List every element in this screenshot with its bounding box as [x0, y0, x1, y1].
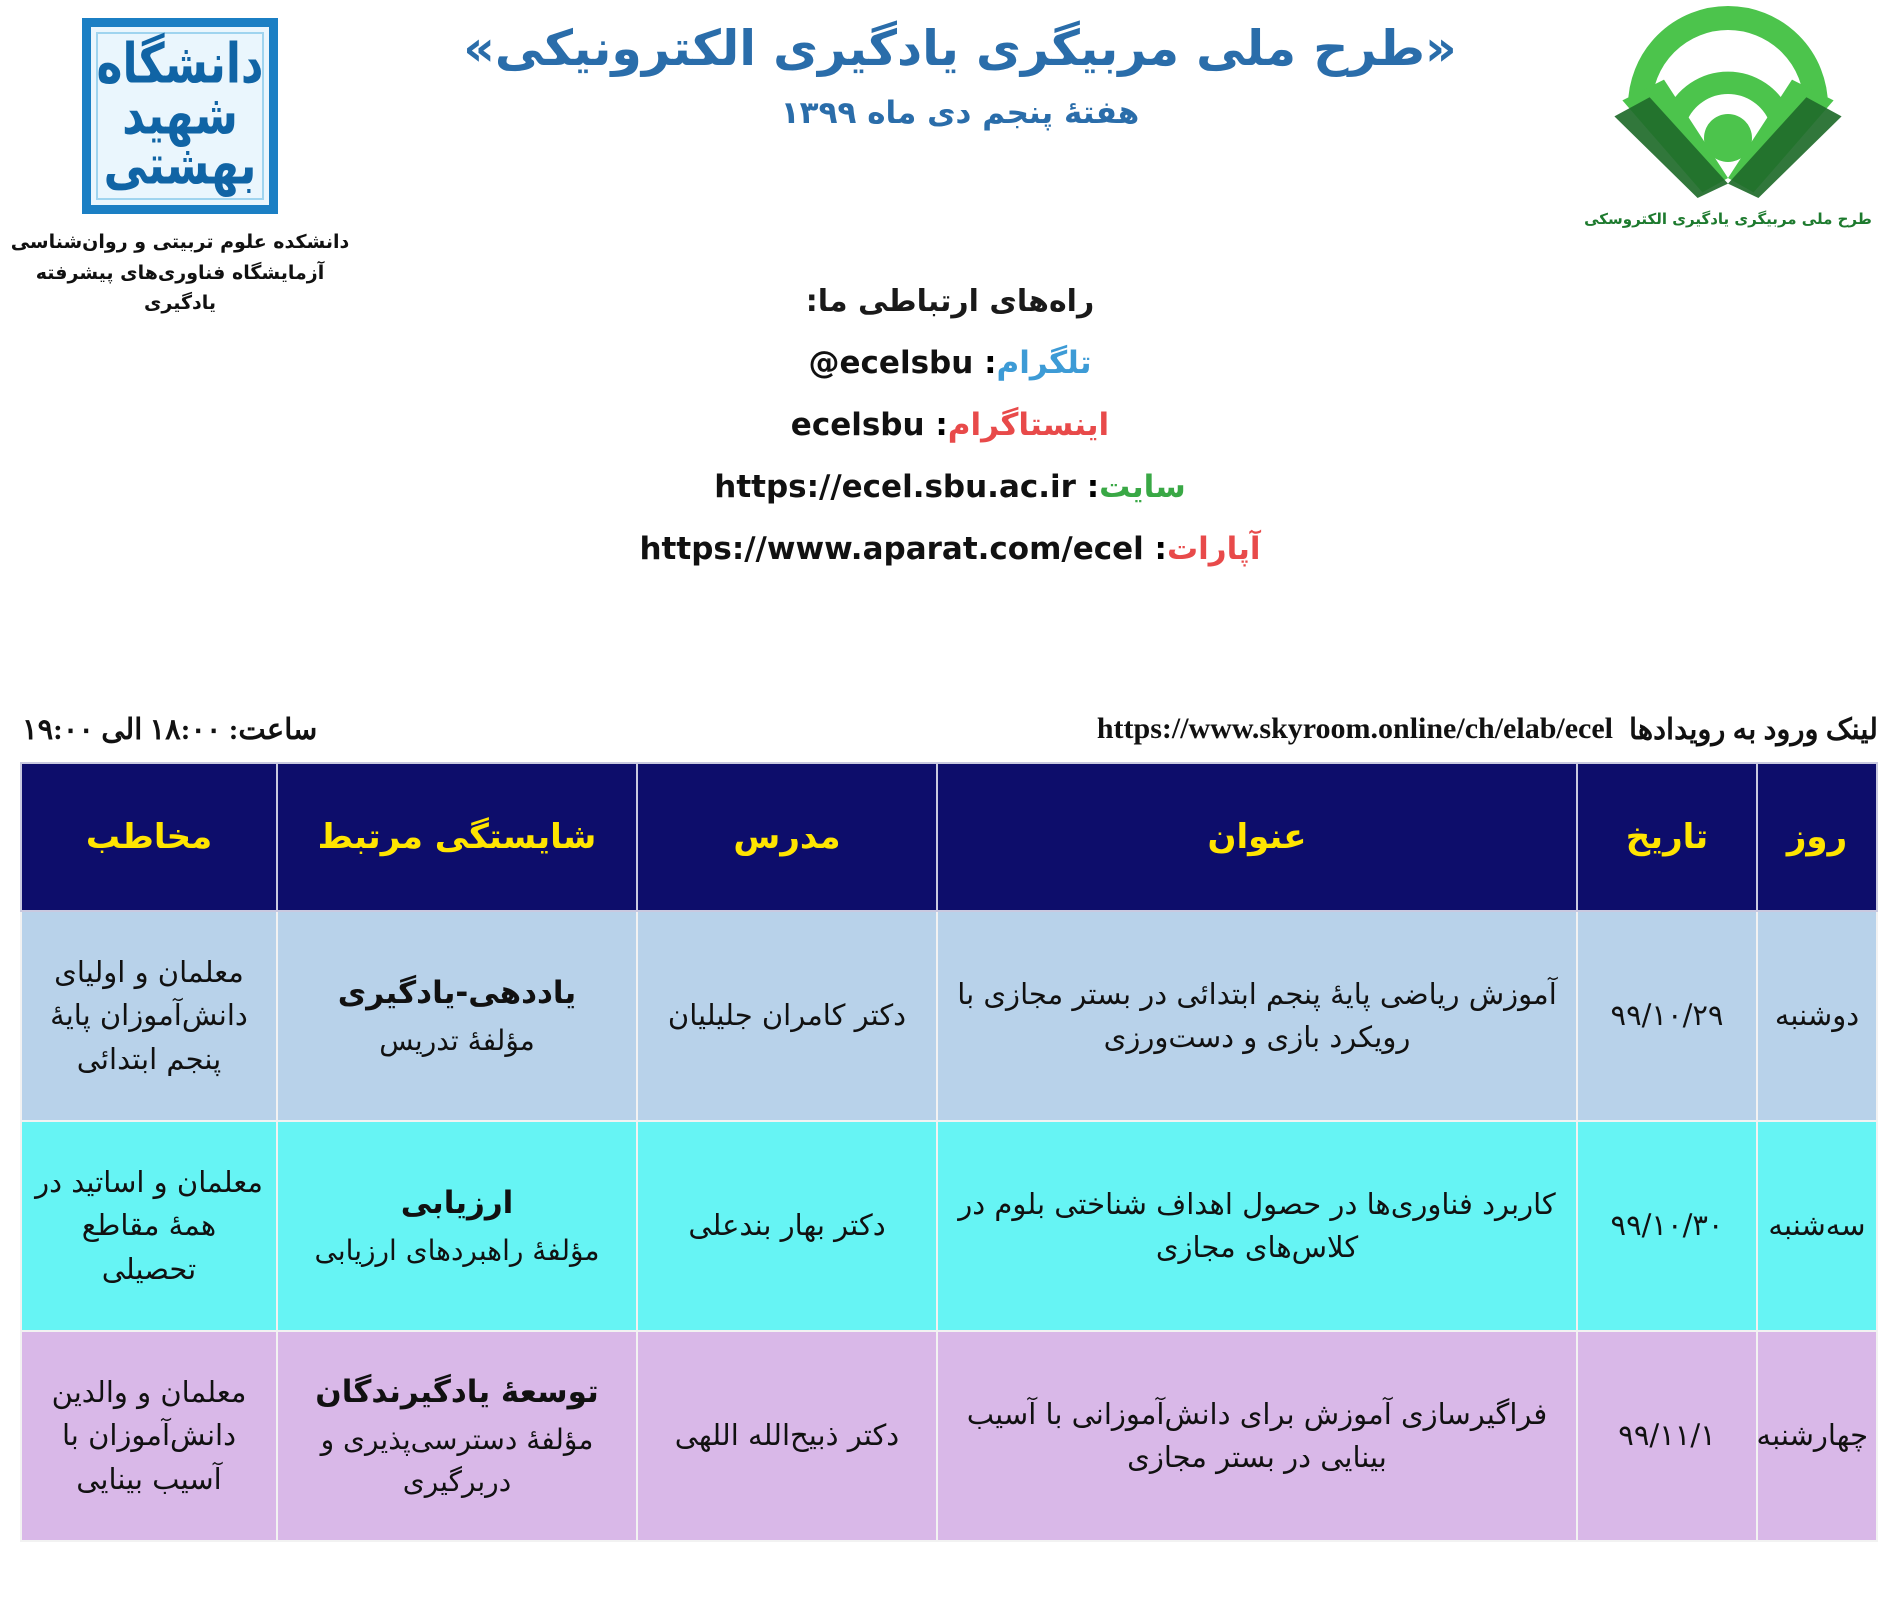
table-row: چهارشنبه ۹۹/۱۱/۱ فراگیرسازی آموزش برای د… — [21, 1331, 1877, 1541]
contact-value-telegram[interactable]: @ecelsbu — [809, 345, 974, 381]
university-crest-icon: دانشگاه شهید بهشتی — [82, 18, 278, 214]
schedule-table: روز تاریخ عنوان مدرس شایستگی مرتبط مخاطب… — [20, 762, 1878, 1542]
column-header-date: تاریخ — [1577, 763, 1757, 911]
cell-teacher: دکتر بهار بندعلی — [637, 1121, 937, 1331]
cell-competency: یاددهی-یادگیری مؤلفۀ تدریس — [277, 911, 637, 1121]
contact-colon-telegram: : — [973, 345, 996, 381]
contact-colon-instagram: : — [925, 407, 948, 443]
poster-page: دانشگاه شهید بهشتی دانشکده علوم تربیتی و… — [0, 0, 1900, 1620]
title-block: «طرح ملی مربیگری یادگیری الکترونیکی» هفت… — [380, 18, 1540, 131]
contact-row-telegram: تلگرام: @ecelsbu — [0, 345, 1900, 381]
cell-date: ۹۹/۱۱/۱ — [1577, 1331, 1757, 1541]
cell-title: آموزش ریاضی پایۀ پنجم ابتدائی در بستر مج… — [937, 911, 1577, 1121]
cell-day: دوشنبه — [1757, 911, 1877, 1121]
cell-teacher: دکتر کامران جلیلیان — [637, 911, 937, 1121]
university-block: دانشگاه شهید بهشتی دانشکده علوم تربیتی و… — [0, 8, 360, 318]
contact-colon-aparat: : — [1144, 531, 1167, 567]
ecel-hands-wifi-icon — [1603, 6, 1853, 206]
column-header-audience: مخاطب — [21, 763, 277, 911]
competency-main: ارزیابی — [286, 1180, 628, 1227]
event-link-label: لینک ورود به رویدادها — [1629, 712, 1878, 747]
cell-date: ۹۹/۱۰/۲۹ — [1577, 911, 1757, 1121]
page-subtitle: هفتۀ پنجم دی ماه ۱۳۹۹ — [380, 95, 1540, 131]
competency-sub: مؤلفۀ دسترسی‌پذیری و دربرگیری — [286, 1419, 628, 1503]
contact-row-aparat: آپارات: https://www.aparat.com/ecel — [0, 531, 1900, 567]
contacts-section: راه‌های ارتباطی ما: تلگرام: @ecelsbu این… — [0, 284, 1900, 593]
column-header-day: روز — [1757, 763, 1877, 911]
contact-value-site[interactable]: https://ecel.sbu.ac.ir — [714, 469, 1076, 505]
cell-title: کاربرد فناوری‌ها در حصول اهداف شناختی بل… — [937, 1121, 1577, 1331]
column-header-title: عنوان — [937, 763, 1577, 911]
contacts-heading: راه‌های ارتباطی ما: — [0, 284, 1900, 319]
ecel-logo-caption: طرح ملی مربیگری یادگیری الکتروسکی — [1578, 210, 1878, 228]
contact-label-site: سایت — [1099, 469, 1186, 505]
competency-main: یاددهی-یادگیری — [286, 970, 628, 1017]
table-row: سه‌شنبه ۹۹/۱۰/۳۰ کاربرد فناوری‌ها در حصو… — [21, 1121, 1877, 1331]
schedule-table-body: دوشنبه ۹۹/۱۰/۲۹ آموزش ریاضی پایۀ پنجم اب… — [21, 911, 1877, 1541]
event-time-label: ساعت: ۱۸:۰۰ الی ۱۹:۰۰ — [22, 712, 317, 747]
cell-teacher: دکتر ذبیح‌الله اللهی — [637, 1331, 937, 1541]
schedule-table-wrap: روز تاریخ عنوان مدرس شایستگی مرتبط مخاطب… — [22, 762, 1878, 1542]
ecel-logo-block: طرح ملی مربیگری یادگیری الکتروسکی — [1578, 6, 1878, 228]
cell-competency: ارزیابی مؤلفۀ راهبردهای ارزیابی — [277, 1121, 637, 1331]
column-header-teacher: مدرس — [637, 763, 937, 911]
contact-label-telegram: تلگرام — [997, 345, 1092, 381]
table-row: دوشنبه ۹۹/۱۰/۲۹ آموزش ریاضی پایۀ پنجم اب… — [21, 911, 1877, 1121]
page-title: «طرح ملی مربیگری یادگیری الکترونیکی» — [380, 18, 1540, 79]
cell-audience: معلمان و والدین دانش‌آموزان با آسیب بینا… — [21, 1331, 277, 1541]
contact-label-instagram: اینستاگرام — [948, 407, 1109, 443]
cell-competency: توسعۀ یادگیرندگان مؤلفۀ دسترسی‌پذیری و د… — [277, 1331, 637, 1541]
faculty-line-1: دانشکده علوم تربیتی و روان‌شناسی — [0, 228, 360, 257]
cell-day: سه‌شنبه — [1757, 1121, 1877, 1331]
column-header-competency: شایستگی مرتبط — [277, 763, 637, 911]
schedule-table-head: روز تاریخ عنوان مدرس شایستگی مرتبط مخاطب — [21, 763, 1877, 911]
competency-sub: مؤلفۀ تدریس — [286, 1020, 628, 1062]
cell-title: فراگیرسازی آموزش برای دانش‌آموزانی با آس… — [937, 1331, 1577, 1541]
cell-audience: معلمان و اساتید در همۀ مقاطع تحصیلی — [21, 1121, 277, 1331]
contact-row-site: سایت: https://ecel.sbu.ac.ir — [0, 469, 1900, 505]
competency-main: توسعۀ یادگیرندگان — [286, 1369, 628, 1416]
contact-value-aparat[interactable]: https://www.aparat.com/ecel — [639, 531, 1143, 567]
event-link-bar: لینک ورود به رویدادها https://www.skyroo… — [0, 700, 1900, 758]
contact-colon-site: : — [1076, 469, 1099, 505]
schedule-header-row: روز تاریخ عنوان مدرس شایستگی مرتبط مخاطب — [21, 763, 1877, 911]
poster-header: دانشگاه شهید بهشتی دانشکده علوم تربیتی و… — [0, 0, 1900, 300]
cell-day: چهارشنبه — [1757, 1331, 1877, 1541]
cell-date: ۹۹/۱۰/۳۰ — [1577, 1121, 1757, 1331]
crest-calligraphy: دانشگاه شهید بهشتی — [91, 18, 269, 214]
contact-value-instagram[interactable]: ecelsbu — [791, 407, 925, 443]
cell-audience: معلمان و اولیای دانش‌آموزان پایۀ پنجم اب… — [21, 911, 277, 1121]
competency-sub: مؤلفۀ راهبردهای ارزیابی — [286, 1230, 628, 1272]
event-link-url[interactable]: https://www.skyroom.online/ch/elab/ecel — [1097, 712, 1613, 746]
contact-label-aparat: آپارات — [1167, 531, 1261, 567]
contact-row-instagram: اینستاگرام: ecelsbu — [0, 407, 1900, 443]
